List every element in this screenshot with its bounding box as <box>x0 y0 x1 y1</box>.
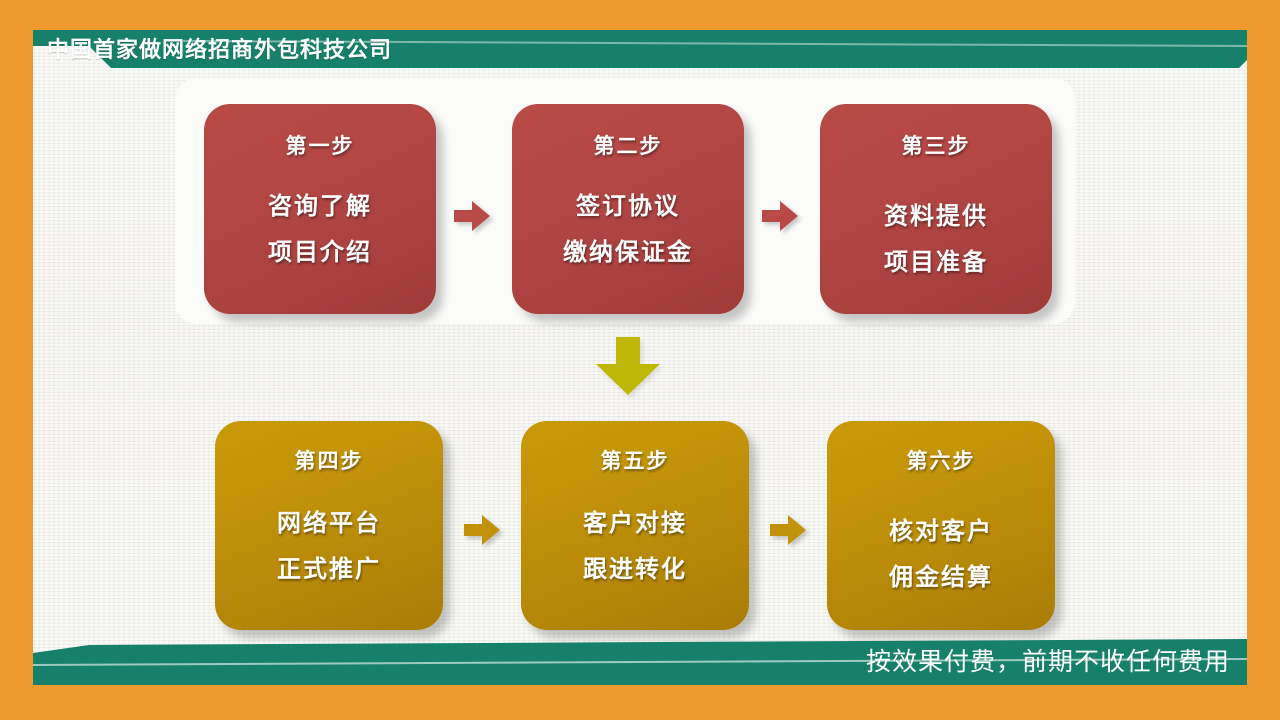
step-card-5-line2: 跟进转化 <box>583 547 687 593</box>
arrow-right-icon-2 <box>760 198 800 234</box>
arrow-right-icon-3 <box>462 512 502 548</box>
step-card-6-line2: 佣金结算 <box>889 555 993 601</box>
step-card-5[interactable]: 第五步 客户对接 跟进转化 <box>521 421 749 630</box>
step-card-2-line1: 签订协议 <box>563 184 693 230</box>
footer-tagline: 按效果付费，前期不收任何费用 <box>866 645 1230 679</box>
arrow-right-icon-1 <box>452 198 492 234</box>
step-card-5-line1: 客户对接 <box>583 501 687 547</box>
step-card-2-line2: 缴纳保证金 <box>563 230 693 276</box>
arrow-right-icon-4 <box>768 512 808 548</box>
step-card-6-line1: 核对客户 <box>889 509 993 555</box>
step-card-2-text: 签订协议 缴纳保证金 <box>563 184 693 276</box>
step-card-1-text: 咨询了解 项目介绍 <box>268 184 372 276</box>
step-card-6-step: 第六步 <box>907 445 976 475</box>
step-card-6[interactable]: 第六步 核对客户 佣金结算 <box>827 421 1055 630</box>
step-card-3-line1: 资料提供 <box>884 194 988 240</box>
step-card-1-line2: 项目介绍 <box>268 230 372 276</box>
slide-root: 中国首家做网络招商外包科技公司 第一步 咨询了解 项目介绍 第二步 签订协议 缴… <box>0 0 1280 720</box>
step-card-3-step: 第三步 <box>902 130 971 160</box>
step-card-4-line1: 网络平台 <box>277 501 381 547</box>
step-card-1-step: 第一步 <box>286 130 355 160</box>
step-card-4-step: 第四步 <box>295 445 364 475</box>
step-card-5-text: 客户对接 跟进转化 <box>583 501 687 593</box>
step-card-1-line1: 咨询了解 <box>268 184 372 230</box>
step-card-3-line2: 项目准备 <box>884 240 988 286</box>
page-title: 中国首家做网络招商外包科技公司 <box>47 36 392 64</box>
arrow-down-icon <box>594 337 662 395</box>
step-card-1[interactable]: 第一步 咨询了解 项目介绍 <box>204 104 436 314</box>
step-card-4[interactable]: 第四步 网络平台 正式推广 <box>215 421 443 630</box>
step-card-3[interactable]: 第三步 资料提供 项目准备 <box>820 104 1052 314</box>
step-card-6-text: 核对客户 佣金结算 <box>889 509 993 601</box>
step-card-5-step: 第五步 <box>601 445 670 475</box>
step-card-4-line2: 正式推广 <box>277 547 381 593</box>
step-card-3-text: 资料提供 项目准备 <box>884 194 988 286</box>
step-card-2[interactable]: 第二步 签订协议 缴纳保证金 <box>512 104 744 314</box>
step-card-4-text: 网络平台 正式推广 <box>277 501 381 593</box>
step-card-2-step: 第二步 <box>594 130 663 160</box>
